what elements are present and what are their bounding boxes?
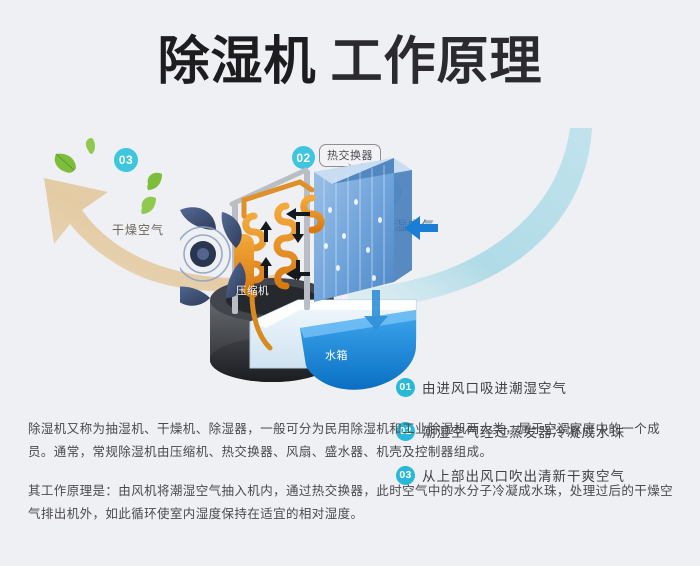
water-tank-label: 水箱: [325, 347, 348, 363]
compressor-label: 压缩机: [236, 283, 269, 298]
body-paragraph-1: 除湿机又称为抽湿机、干燥机、除湿器，一般可分为民用除湿机和工业除湿机两大类，属于…: [28, 418, 676, 464]
title-part-2: 工作原理: [331, 33, 543, 91]
badge-03-dry-air: 03: [114, 148, 138, 172]
list-item: 01 由进风口吸进潮湿空气: [396, 376, 686, 398]
step-text-01: 由进风口吸进潮湿空气: [422, 377, 567, 397]
dehumidifier-machine-diagram: [180, 150, 440, 400]
page-title: 除湿机工作原理: [0, 32, 700, 92]
page-root: 除湿机工作原理: [0, 0, 700, 566]
title-part-1: 除湿机: [157, 33, 316, 91]
body-paragraph-2: 其工作原理是：由风机将潮湿空气抽入机内，通过热交换器，此时空气中的水分子冷凝成水…: [28, 480, 676, 526]
body-copy: 除湿机又称为抽湿机、干燥机、除湿器，一般可分为民用除湿机和工业除湿机两大类，属于…: [28, 418, 676, 526]
illustration-stage: 干燥空气 潮湿空气 03 02 01 热交换器: [0, 120, 700, 405]
step-badge-01: 01: [396, 378, 415, 397]
